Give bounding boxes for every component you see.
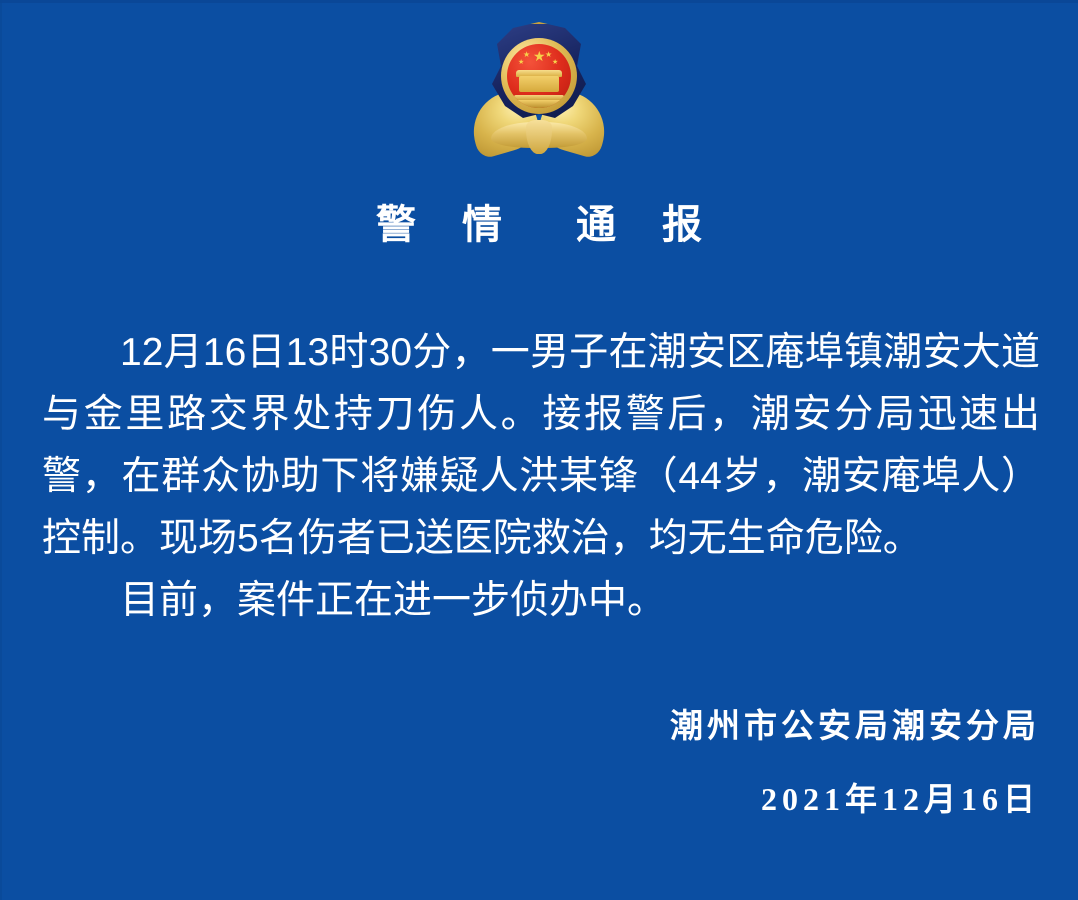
top-edge-divider xyxy=(0,0,1078,3)
badge-wall-icon xyxy=(509,100,569,108)
badge-star-large-icon: ★ xyxy=(533,51,546,62)
police-notice-poster: ★ ★ ★ ★ ★ 警 情 通 报 12月16日13时30分，一男子在潮安区庵埠… xyxy=(0,0,1078,900)
china-police-badge-icon: ★ ★ ★ ★ ★ xyxy=(475,22,603,154)
notice-footer: 潮州市公安局潮安分局 2021年12月16日 xyxy=(420,704,1040,822)
notice-paragraph-1: 12月16日13时30分，一男子在潮安区庵埠镇潮安大道与金里路交界处持刀伤人。接… xyxy=(42,322,1040,570)
issuing-organization: 潮州市公安局潮安分局 xyxy=(420,704,1040,750)
badge-gate-icon xyxy=(519,76,559,92)
issue-date: 2021年12月16日 xyxy=(420,776,1040,822)
page-title: 警 情 通 报 xyxy=(0,192,1078,250)
badge-star-small-3-icon: ★ xyxy=(518,57,524,68)
badge-wheat-center-icon xyxy=(526,120,552,154)
notice-body: 12月16日13时30分，一男子在潮安区庵埠镇潮安大道与金里路交界处持刀伤人。接… xyxy=(42,322,1040,632)
notice-paragraph-2: 目前，案件正在进一步侦办中。 xyxy=(42,570,1040,632)
emblem-container: ★ ★ ★ ★ ★ xyxy=(0,22,1078,162)
badge-star-small-4-icon: ★ xyxy=(552,57,558,68)
badge-national-emblem-icon: ★ ★ ★ ★ ★ xyxy=(507,44,571,108)
